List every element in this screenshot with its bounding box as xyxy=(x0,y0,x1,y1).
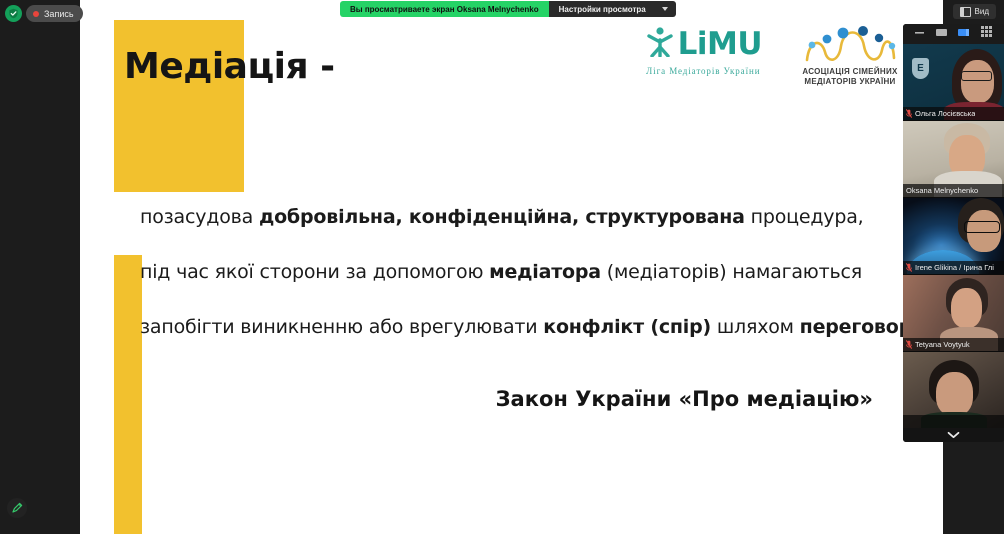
slide-accent-bar xyxy=(114,255,142,534)
slide-body-line: запобігти виникненню або врегулювати кон… xyxy=(140,318,900,337)
plain-text: шляхом xyxy=(711,316,800,338)
asmu-line-1: АСОЦІАЦІЯ СІМЕЙНИХ xyxy=(802,67,897,77)
view-button-label: Вид xyxy=(975,7,989,16)
speaker-view-icon[interactable] xyxy=(935,25,948,43)
screen-share-bar: Вы просматриваете экран Oksana Melnychen… xyxy=(340,1,676,17)
plain-text: (медіаторів) намагаються xyxy=(601,261,862,283)
slide-attribution: Закон України «Про медіацію» xyxy=(496,387,873,411)
participant-tile[interactable]: Irene Glikina / Ірина Глі xyxy=(903,198,1004,274)
avatar-face xyxy=(951,288,982,328)
family-arcs-icon xyxy=(803,26,897,67)
plain-text: позасудова xyxy=(140,206,259,228)
recording-label: Запись xyxy=(44,9,74,19)
emphasis-text: медіатора xyxy=(489,261,601,283)
participant-tile[interactable] xyxy=(903,352,1004,428)
participant-name: Irene Glikina / Ірина Глі xyxy=(915,263,994,272)
limu-wordmark: LiMU xyxy=(678,29,762,60)
recording-indicator[interactable]: Запись xyxy=(26,5,83,22)
slide-body-line: позасудова добровільна, конфіденційна, с… xyxy=(140,208,900,227)
background-emblem-icon xyxy=(912,58,929,79)
participant-tile[interactable]: Oksana Melnychenko xyxy=(903,121,1004,197)
layout-view-icon xyxy=(960,7,971,17)
glasses-icon xyxy=(964,221,1000,233)
participant-name: Oksana Melnychenko xyxy=(906,186,978,195)
slide-body-text: позасудова добровільна, конфіденційна, с… xyxy=(140,208,900,373)
view-options-label: Настройки просмотра xyxy=(559,5,646,14)
shield-check-icon[interactable] xyxy=(5,5,22,22)
slide-title: Медіація - xyxy=(124,46,335,87)
participant-tile[interactable]: Ольга Лосієвська xyxy=(903,44,1004,120)
pencil-icon xyxy=(11,502,23,514)
participant-name: Ольга Лосієвська xyxy=(915,109,975,118)
mic-muted-icon xyxy=(906,263,912,272)
emphasis-text: конфлікт (спір) xyxy=(543,316,711,338)
participant-name: Tetyana Voytyuk xyxy=(915,340,970,349)
strip-view-icon[interactable] xyxy=(957,25,970,43)
participant-name-bar xyxy=(903,415,1004,428)
filmstrip-layout-toolbar xyxy=(903,24,1004,44)
minimize-icon[interactable] xyxy=(914,25,925,43)
record-dot-icon xyxy=(33,11,39,17)
participant-filmstrip: Ольга Лосієвська Oksana Melnychenko xyxy=(903,24,1004,442)
avatar-face xyxy=(936,372,973,416)
gallery-view-icon[interactable] xyxy=(980,25,993,43)
shared-screen-slide: Медіація - LiMU Ліга Медіаторів України xyxy=(80,0,943,534)
limu-subtitle: Ліга Медіаторів України xyxy=(646,66,760,76)
annotate-button[interactable] xyxy=(7,498,27,518)
limu-logo: LiMU Ліга Медіаторів України xyxy=(645,26,762,76)
chevron-down-icon xyxy=(662,7,668,11)
view-options-button[interactable]: Настройки просмотра xyxy=(549,1,676,17)
share-notice: Вы просматриваете экран Oksana Melnychen… xyxy=(340,1,549,17)
participant-name-bar: Irene Glikina / Ірина Глі xyxy=(903,261,1004,274)
slide-body-line: під час якої сторони за допомогою медіат… xyxy=(140,263,900,282)
view-button[interactable]: Вид xyxy=(953,4,996,19)
plain-text: під час якої сторони за допомогою xyxy=(140,261,489,283)
mic-muted-icon xyxy=(906,109,912,118)
filmstrip-scroll-down-button[interactable] xyxy=(903,428,1004,442)
slide-logos: LiMU Ліга Медіаторів України xyxy=(645,26,898,87)
plain-text: процедура, xyxy=(745,206,864,228)
avatar-face xyxy=(961,60,994,103)
asmu-line-2: МЕДІАТОРІВ УКРАЇНИ xyxy=(804,77,895,87)
participant-name-bar: Ольга Лосієвська xyxy=(903,107,1004,120)
limu-figure-icon xyxy=(645,26,675,62)
mic-muted-icon xyxy=(906,340,912,349)
participant-name-bar: Oksana Melnychenko xyxy=(903,184,1004,197)
participant-name-bar: Tetyana Voytyuk xyxy=(903,338,1004,351)
participant-tile[interactable]: Tetyana Voytyuk xyxy=(903,275,1004,351)
emphasis-text: добровільна, конфіденційна, структурован… xyxy=(259,206,745,228)
plain-text: запобігти виникненню або врегулювати xyxy=(140,316,543,338)
zoom-meeting-window: Медіація - LiMU Ліга Медіаторів України xyxy=(0,0,1004,534)
glasses-icon xyxy=(961,71,992,81)
chevron-down-icon xyxy=(947,431,960,439)
asmu-logo: АСОЦІАЦІЯ СІМЕЙНИХ МЕДІАТОРІВ УКРАЇНИ xyxy=(802,26,898,87)
